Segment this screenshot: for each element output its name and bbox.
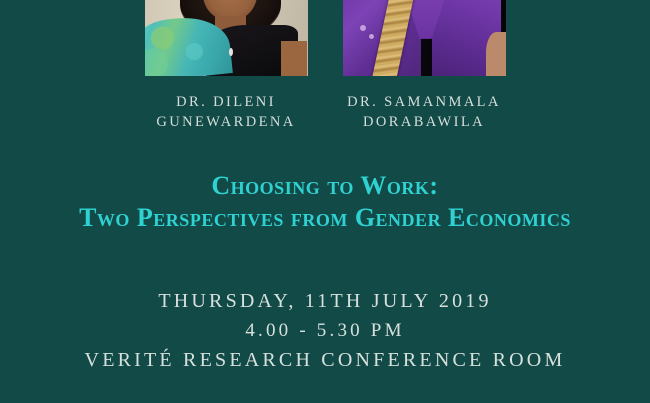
- shoulder-shape: [281, 41, 307, 76]
- speaker-name-1-line2: Gunewardena: [145, 112, 308, 132]
- event-details: Thursday, 11th July 2019 4.00 - 5.30 PM …: [0, 286, 650, 375]
- event-venue: Verité Research Conference Room: [0, 345, 650, 375]
- speaker-names: Dr. Dileni Gunewardena Dr. Samanmala Dor…: [0, 92, 650, 132]
- speaker-name-2: Dr. Samanmala Dorabawila: [343, 92, 506, 132]
- event-title-line2: Two Perspectives from Gender Economics: [0, 202, 650, 234]
- teal-sari-shape: [145, 13, 233, 76]
- event-title: Choosing to Work: Two Perspectives from …: [0, 170, 650, 234]
- sari-motif: [369, 34, 374, 39]
- portrait-samanmala-dorabawila: [343, 0, 506, 76]
- speaker-name-1-line1: Dr. Dileni: [145, 92, 308, 112]
- speaker-name-2-line1: Dr. Samanmala: [343, 92, 506, 112]
- event-date: Thursday, 11th July 2019: [0, 286, 650, 316]
- speaker-name-2-line2: Dorabawila: [343, 112, 506, 132]
- speaker-name-1: Dr. Dileni Gunewardena: [145, 92, 308, 132]
- speaker-photos: [0, 0, 650, 76]
- event-poster: Dr. Dileni Gunewardena Dr. Samanmala Dor…: [0, 0, 650, 403]
- arm-shape: [486, 32, 506, 76]
- event-time: 4.00 - 5.30 PM: [0, 316, 650, 345]
- event-title-line1: Choosing to Work:: [0, 170, 650, 202]
- portrait-dileni-gunewardena: [145, 0, 308, 76]
